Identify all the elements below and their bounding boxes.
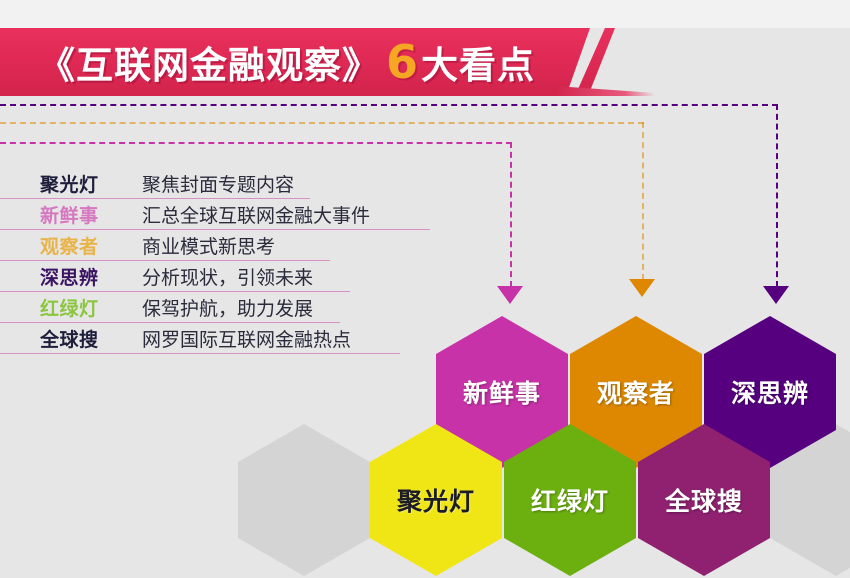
hexagon-cluster: 新鲜事 观察者 深思辨 聚光灯 红绿灯 全球搜: [0, 0, 850, 578]
hexagon-label: 全球搜: [665, 482, 743, 518]
hexagon-label: 聚光灯: [397, 482, 475, 518]
hexagon-label: 深思辨: [731, 374, 809, 410]
hexagon-label: 观察者: [597, 374, 675, 410]
gray-hex-left: [238, 424, 370, 576]
hexagon-label: 红绿灯: [531, 482, 609, 518]
hexagon-label: 新鲜事: [463, 374, 541, 410]
